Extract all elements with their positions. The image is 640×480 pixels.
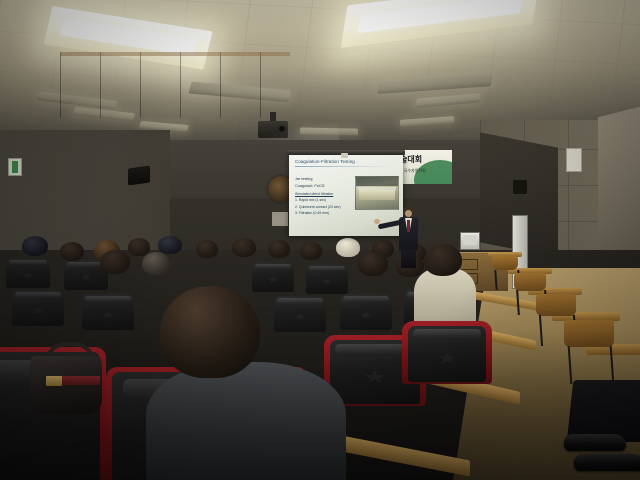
left-wall-speaker <box>128 165 150 185</box>
standing-person-legs <box>560 380 640 480</box>
exit-sign <box>8 158 22 176</box>
seat-gloss <box>413 329 482 338</box>
seat-gloss <box>9 260 48 265</box>
auditorium-seat[interactable] <box>82 294 134 330</box>
seat-gloss <box>277 298 323 304</box>
audience-head <box>22 236 48 256</box>
handbag-strap <box>60 376 100 385</box>
audience-head <box>142 252 170 275</box>
audience-torso-cream <box>414 268 476 326</box>
black-handbag[interactable] <box>30 342 102 414</box>
seat-gloss <box>15 292 61 298</box>
seat-gloss <box>85 296 131 302</box>
slide-step-3: 3. Filtration (0.45 mm) <box>295 210 397 216</box>
presenter-monitor <box>460 232 480 250</box>
side-chair[interactable] <box>564 320 614 384</box>
banner-subtitle: 한국수자원학회 <box>400 169 426 173</box>
handbag-body <box>30 356 102 414</box>
right-wall-panel <box>566 148 582 172</box>
audience-head <box>158 236 182 254</box>
chair-seat <box>536 294 576 316</box>
audience-head <box>100 250 130 274</box>
auditorium-seat[interactable] <box>306 264 348 294</box>
slide-title-rule <box>295 166 391 167</box>
slide-photo-background <box>356 177 398 186</box>
presenter-hand <box>374 219 380 224</box>
presenter-face <box>405 210 412 217</box>
screen-pull-knob[interactable] <box>341 153 348 158</box>
banner-title: 술대회 <box>400 156 422 164</box>
trouser-leg <box>567 380 640 442</box>
chair-seat <box>492 256 518 270</box>
wood-wainscot-panel <box>60 52 290 118</box>
lecture-hall-photo: 술대회 한국수자원학회 Coagulation-Filtration Testi… <box>0 0 640 480</box>
auditorium-seat[interactable] <box>6 258 50 288</box>
presenter <box>386 206 430 268</box>
audience-head <box>60 242 84 261</box>
ceiling-light-off-7 <box>300 127 358 135</box>
auditorium-seat[interactable] <box>340 294 392 330</box>
audience-head <box>336 238 360 257</box>
audience-head <box>232 238 256 257</box>
conference-banner: 술대회 한국수자원학회 <box>396 150 452 184</box>
monitor-screen <box>463 235 477 245</box>
lamp-tube <box>358 0 522 33</box>
auditorium-seat[interactable] <box>408 326 486 382</box>
presenter-legs <box>401 250 416 268</box>
audience-head <box>268 240 290 258</box>
seat-gloss <box>309 266 346 271</box>
auditorium-seat[interactable] <box>252 262 294 292</box>
audience-head <box>300 242 322 260</box>
dress-shoe <box>574 454 640 471</box>
handbag-clasp <box>46 376 62 386</box>
audience-head <box>358 252 388 276</box>
slide-photo-jar-test <box>355 176 399 210</box>
auditorium-seat[interactable] <box>12 290 64 326</box>
foreground-audience-head <box>160 286 260 378</box>
wainscot-rail <box>60 52 290 56</box>
auditorium-seat[interactable] <box>274 296 326 332</box>
chair-seat <box>514 273 546 291</box>
audience-head <box>196 240 218 258</box>
right-wall-speaker <box>513 180 527 194</box>
projector-lens-icon <box>278 125 286 133</box>
slide-title: Coagulation-Filtration Testing <box>295 159 397 164</box>
seat-gloss <box>343 296 389 302</box>
wall-notice <box>272 212 288 226</box>
audience-torso-center <box>146 362 346 480</box>
dress-shoe <box>564 434 626 451</box>
seat-gloss <box>255 264 292 269</box>
right-wall-column <box>598 107 640 267</box>
slide-photo-jars <box>359 190 395 200</box>
chair-seat <box>564 320 614 347</box>
chair-legs <box>568 346 615 384</box>
presenter-tie <box>407 220 410 232</box>
